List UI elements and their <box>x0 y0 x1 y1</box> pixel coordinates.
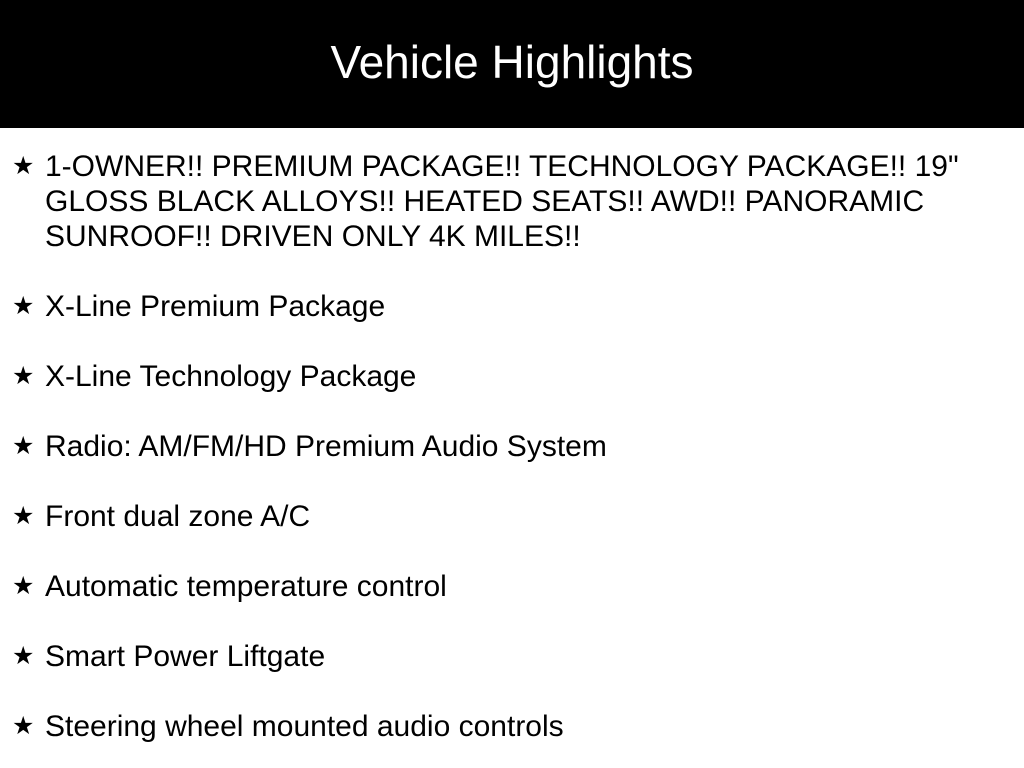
list-item: ★ Steering wheel mounted audio controls <box>0 709 1024 744</box>
list-item: ★ Front dual zone A/C <box>0 499 1024 534</box>
list-item: ★ X-Line Technology Package <box>0 359 1024 394</box>
list-item: ★ X-Line Premium Package <box>0 289 1024 324</box>
star-icon: ★ <box>12 569 38 604</box>
list-item-label: Steering wheel mounted audio controls <box>45 709 966 744</box>
list-item-label: X-Line Premium Package <box>45 289 966 324</box>
star-icon: ★ <box>12 359 38 394</box>
list-item-label: Front dual zone A/C <box>45 499 966 534</box>
star-icon: ★ <box>12 149 38 184</box>
list-item: ★ 1-OWNER!! PREMIUM PACKAGE!! TECHNOLOGY… <box>0 149 1024 254</box>
list-item: ★ Radio: AM/FM/HD Premium Audio System <box>0 429 1024 464</box>
star-icon: ★ <box>12 709 38 744</box>
list-item: ★ Automatic temperature control <box>0 569 1024 604</box>
page-title: Vehicle Highlights <box>330 39 693 85</box>
list-item-label: X-Line Technology Package <box>45 359 966 394</box>
vehicle-highlights-page: Vehicle Highlights ★ 1-OWNER!! PREMIUM P… <box>0 0 1024 768</box>
star-icon: ★ <box>12 639 38 674</box>
list-item-label: Smart Power Liftgate <box>45 639 966 674</box>
page-header: Vehicle Highlights <box>0 0 1024 128</box>
list-item-label: 1-OWNER!! PREMIUM PACKAGE!! TECHNOLOGY P… <box>45 149 966 254</box>
list-item-label: Radio: AM/FM/HD Premium Audio System <box>45 429 966 464</box>
star-icon: ★ <box>12 429 38 464</box>
star-icon: ★ <box>12 499 38 534</box>
list-item-label: Automatic temperature control <box>45 569 966 604</box>
list-item: ★ Smart Power Liftgate <box>0 639 1024 674</box>
highlights-list: ★ 1-OWNER!! PREMIUM PACKAGE!! TECHNOLOGY… <box>0 128 1024 744</box>
star-icon: ★ <box>12 289 38 324</box>
